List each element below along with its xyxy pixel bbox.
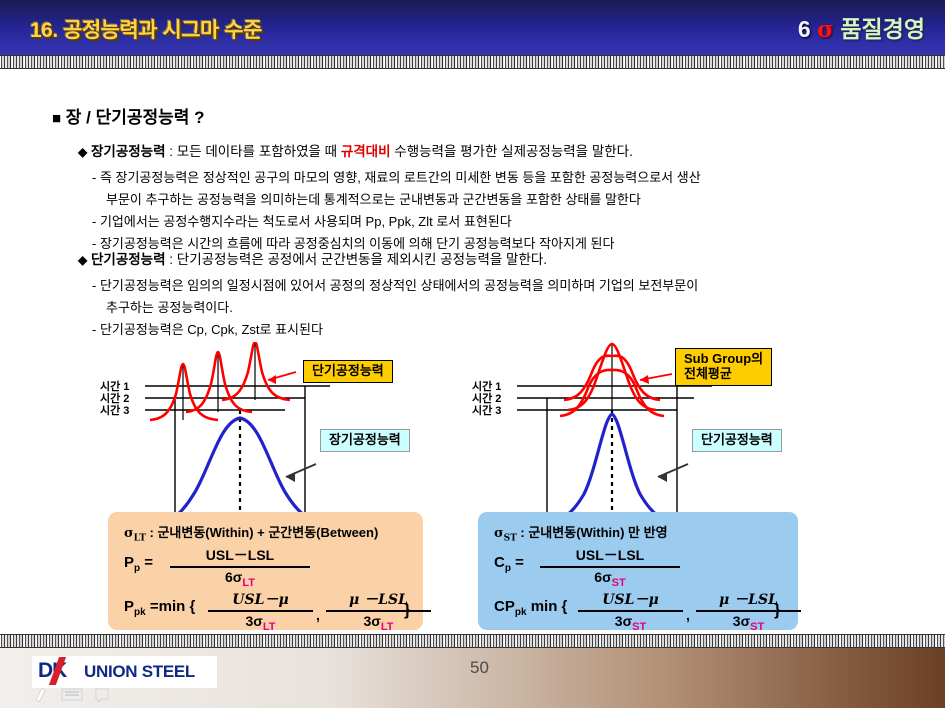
logo-company-name: UNION STEEL	[84, 662, 195, 682]
ppk-a-denominator: 3σLT	[208, 612, 313, 633]
ppk-label-sub: pk	[134, 607, 146, 618]
cppk-close-brace: }	[774, 600, 781, 620]
ppk-a-denominator-main: 3σ	[246, 613, 263, 629]
bullet-term-2: 단기공정능력	[91, 252, 166, 267]
bullet-sep-2: :	[166, 252, 177, 267]
ppk-b-numerator: μ －LSL	[326, 589, 431, 610]
bullet-detail-line: 부문이 추구하는 공정능력을 의미하는데 통계적으로는 군내변동과 군간변동을 …	[106, 189, 701, 208]
formula-box-long-term: σLT : 군내변동(Within) + 군간변동(Between) Pp = …	[108, 512, 423, 630]
sigma-st-desc: : 군내변동(Within) 만 반영	[517, 525, 668, 540]
cppk-a-denominator-main: 3σ	[615, 613, 632, 629]
pp-label: Pp =	[124, 554, 153, 574]
greek-key-divider-top	[0, 55, 945, 69]
ppk-b-denominator-main: 3σ	[364, 613, 381, 629]
bullet-highlight-1: 규격대비	[341, 144, 391, 159]
cppk-a-denominator-sub: ST	[632, 621, 646, 633]
diamond-bullet-icon: ◆	[78, 145, 87, 159]
bullet-detail-line: 추구하는 공정능력이다.	[106, 297, 698, 316]
cp-label: Cp =	[494, 554, 524, 574]
pp-denominator-sub: LT	[242, 577, 255, 589]
pp-label-main: P	[124, 554, 134, 571]
greek-key-divider-bottom	[0, 634, 945, 648]
time-label-3: 시간 3	[472, 402, 501, 418]
callout-subgroup-mean: Sub Group의 전체평균	[675, 348, 772, 386]
ppk-comma: ,	[316, 607, 320, 623]
cppk-label-sub: pk	[515, 607, 527, 618]
cppk-comma: ,	[686, 607, 690, 623]
callout-long-term-left: 장기공정능력	[320, 429, 410, 452]
ppk-label-main: P	[124, 598, 134, 615]
sigma-lt-symbol: σ	[124, 526, 134, 541]
bullet-detail-line: - 단기공정능력은 Cp, Cpk, Zst로 표시된다	[92, 319, 698, 338]
bullet-sep-1: :	[166, 144, 177, 159]
cppk-b-denominator-main: 3σ	[733, 613, 750, 629]
ppk-a-numerator: USL－μ	[208, 589, 313, 610]
cppk-fraction-a: USL－μ 3σST	[578, 589, 683, 633]
bullet-block-long-term: ◆ 장기공정능력 : 모든 데이타를 포함하였을 때 규격대비 수행능력을 평가…	[78, 140, 701, 252]
cp-denominator-sub: ST	[612, 577, 626, 589]
ppk-a-denominator-sub: LT	[263, 621, 276, 633]
bullet-detail-line: - 기업에서는 공정수행지수라는 척도로서 사용되며 Pp, Ppk, Zlt …	[92, 211, 701, 230]
time-label-3: 시간 3	[100, 402, 129, 418]
bullet-lead-pre-2: 단기공정능력은 공정에서 군간변동을 제외시킨 공정능력을 말한다.	[177, 252, 547, 267]
sigma-lt-desc: : 군내변동(Within) + 군간변동(Between)	[146, 525, 378, 540]
cp-denominator: 6σST	[540, 568, 680, 589]
cppk-fraction-b: μ －LSL 3σST	[696, 589, 801, 633]
ppk-b-denominator: 3σLT	[326, 612, 431, 633]
pp-equals: =	[144, 554, 153, 571]
cppk-b-numerator: μ －LSL	[696, 589, 801, 610]
brand-six-text: 6	[798, 16, 811, 42]
page-title: 16. 공정능력과 시그마 수준	[30, 14, 262, 44]
cp-equals: =	[515, 554, 524, 571]
section-heading-label: 장 / 단기공정능력 ?	[66, 108, 205, 127]
bullet-lead-pre-1: 모든 데이타를 포함하였을 때	[177, 144, 341, 159]
cppk-a-denominator: 3σST	[578, 612, 683, 633]
sigma-st-subscript: ST	[504, 534, 517, 544]
page-number: 50	[470, 658, 489, 678]
sigma-st-symbol: σ	[494, 526, 504, 541]
cppk-label-main: CP	[494, 598, 515, 615]
brand-logo: 6 σ 품질경영	[798, 10, 925, 44]
bullet-term-1: 장기공정능력	[91, 144, 166, 159]
cp-label-sub: p	[505, 563, 511, 574]
pp-denominator-main: 6σ	[225, 569, 242, 585]
bullet-lead-post-1: 수행능력을 평가한 실제공정능력을 말한다.	[391, 144, 633, 159]
slide-footer: DK UNION STEEL 50	[0, 648, 945, 708]
callout-subgroup-line2: 전체평균	[684, 367, 763, 382]
ppk-label: Ppk =min {	[124, 598, 195, 618]
cppk-label: CPpk min {	[494, 598, 567, 618]
cp-numerator: USL－LSL	[540, 545, 680, 566]
ppk-b-denominator-sub: LT	[381, 621, 394, 633]
sigma-lt-subscript: LT	[134, 534, 146, 544]
callout-subgroup-line1: Sub Group의	[684, 352, 763, 367]
cp-fraction: USL－LSL 6σST	[540, 545, 680, 589]
pp-numerator: USL－LSL	[170, 545, 310, 566]
formula-box-short-term: σST : 군내변동(Within) 만 반영 Cp = USL－LSL 6σS…	[478, 512, 798, 630]
cp-denominator-main: 6σ	[594, 569, 611, 585]
square-bullet-icon: ■	[52, 110, 61, 127]
sigma-lt-definition: σLT : 군내변동(Within) + 군간변동(Between)	[124, 522, 378, 544]
cppk-b-denominator: 3σST	[696, 612, 801, 633]
bullet-lead-1: ◆ 장기공정능력 : 모든 데이타를 포함하였을 때 규격대비 수행능력을 평가…	[78, 140, 701, 160]
pp-label-sub: p	[134, 563, 140, 574]
logo-decoration-icons	[34, 686, 129, 702]
ppk-fraction-b: μ －LSL 3σLT	[326, 589, 431, 633]
ppk-fraction-a: USL－μ 3σLT	[208, 589, 313, 633]
sigma-st-definition: σST : 군내변동(Within) 만 반영	[494, 522, 668, 544]
ppk-equals-min: =min {	[150, 598, 195, 615]
ppk-close-brace: }	[404, 600, 411, 620]
cp-label-main: C	[494, 554, 505, 571]
diamond-bullet-icon: ◆	[78, 253, 87, 267]
callout-short-term-left: 단기공정능력	[303, 360, 393, 383]
callout-short-term-right: 단기공정능력	[692, 429, 782, 452]
slide-header: 16. 공정능력과 시그마 수준 6 σ 품질경영	[0, 0, 945, 55]
bullet-lead-2: ◆ 단기공정능력 : 단기공정능력은 공정에서 군간변동을 제외시킨 공정능력을…	[78, 248, 698, 268]
bullet-block-short-term: ◆ 단기공정능력 : 단기공정능력은 공정에서 군간변동을 제외시킨 공정능력을…	[78, 248, 698, 338]
brand-korean-text: 품질경영	[840, 16, 925, 42]
cppk-b-denominator-sub: ST	[750, 621, 764, 633]
pp-fraction: USL－LSL 6σLT	[170, 545, 310, 589]
bullet-detail-line: - 단기공정능력은 임의의 일정시점에 있어서 공정의 정상적인 상태에서의 공…	[92, 275, 698, 294]
bullet-detail-line: - 즉 장기공정능력은 정상적인 공구의 마모의 영향, 재료의 로트간의 미세…	[92, 167, 701, 186]
section-heading: ■ 장 / 단기공정능력 ?	[52, 103, 205, 128]
sigma-icon: σ	[817, 16, 834, 43]
pp-denominator: 6σLT	[170, 568, 310, 589]
company-logo: DK UNION STEEL	[32, 656, 217, 688]
cppk-min: min {	[531, 598, 568, 615]
cppk-a-numerator: USL－μ	[578, 589, 683, 610]
